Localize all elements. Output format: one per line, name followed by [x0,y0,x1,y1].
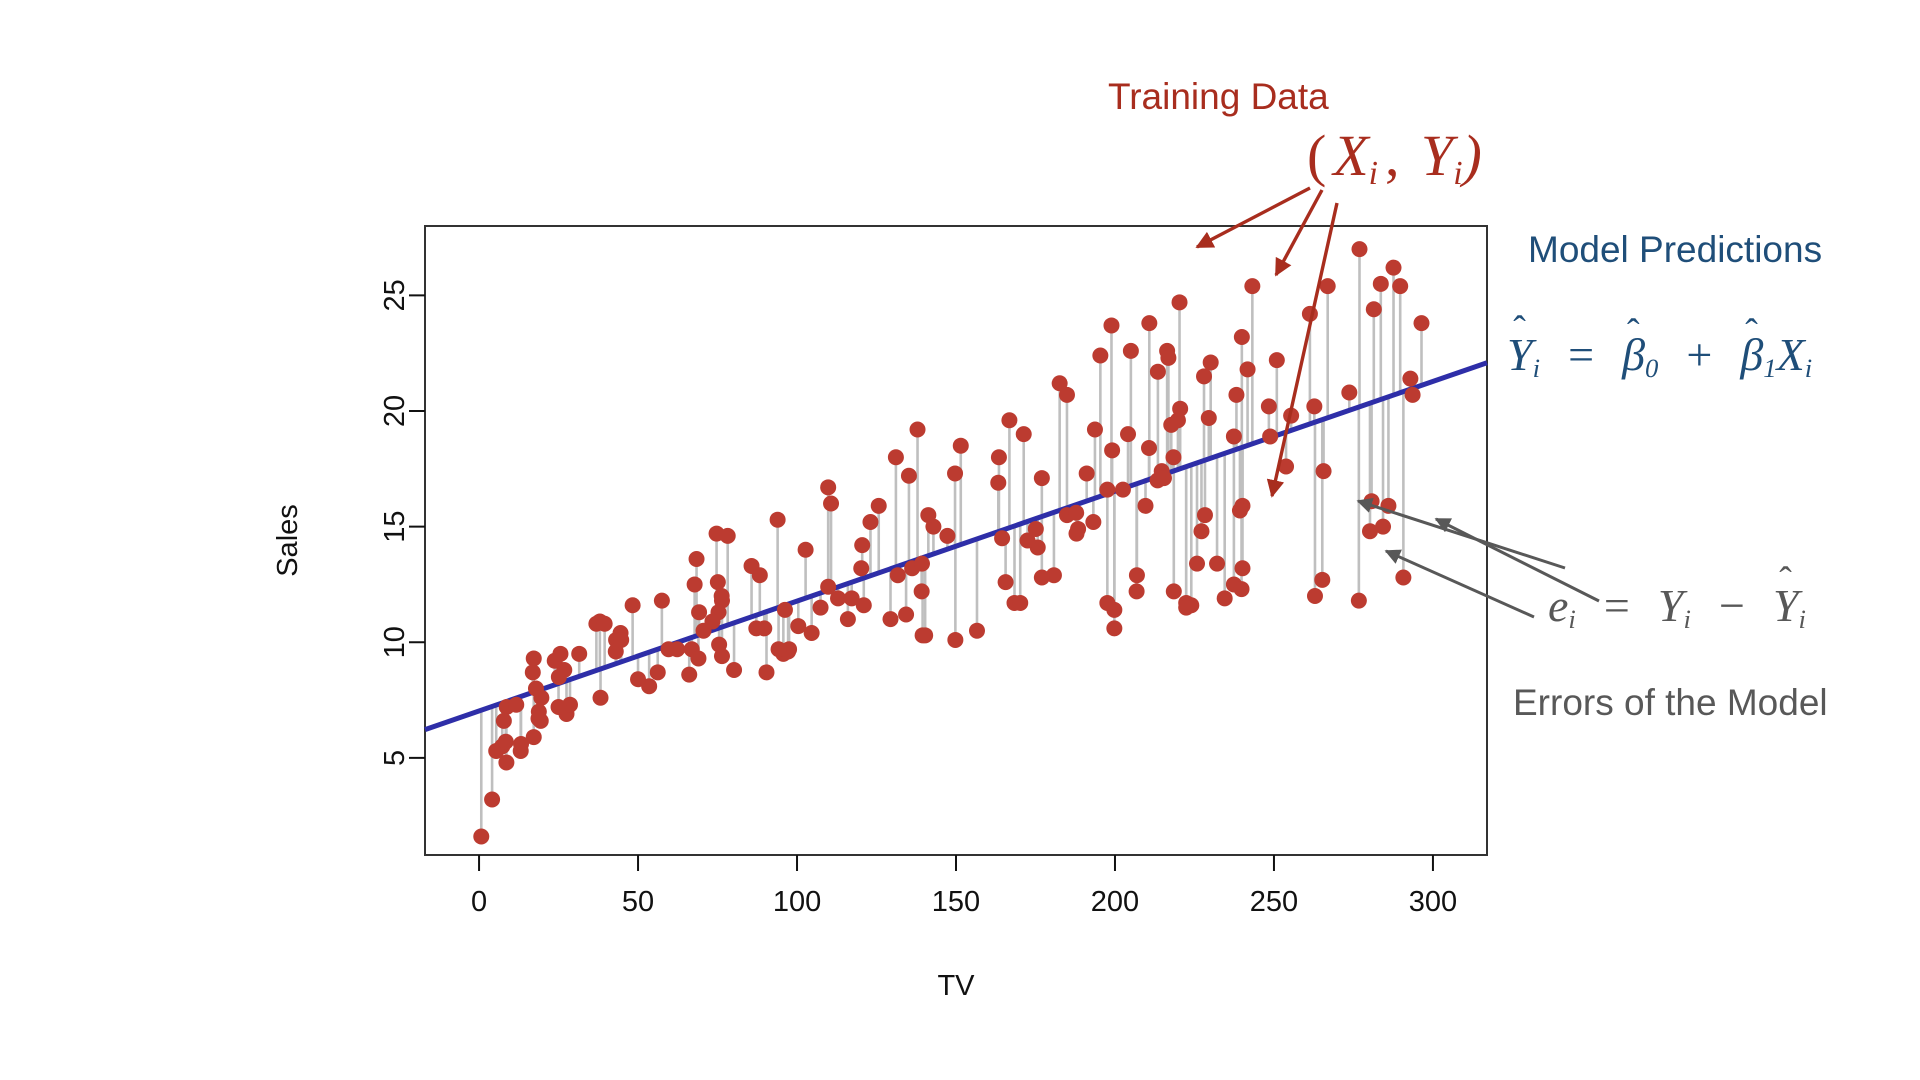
data-point [1386,260,1402,276]
data-point [1351,593,1367,609]
data-point [484,792,500,808]
training-data-formula: (Xi, Yi) [1300,126,1482,187]
data-point [1232,502,1248,518]
data-point [1123,343,1139,359]
data-point [1373,276,1389,292]
data-point [1165,449,1181,465]
data-point [650,664,666,680]
subscript-i: i [1799,605,1806,633]
data-point [1141,315,1157,331]
beta1-hat: ˆβ [1740,331,1763,379]
y-axis-title: Sales [272,504,304,577]
plus-sign: + [1681,331,1718,379]
data-point [947,465,963,481]
data-point [1156,470,1172,486]
x-axis-tick-label: 300 [1409,886,1457,918]
data-point [526,729,542,745]
subscript-i: i [1453,156,1462,191]
data-point [798,542,814,558]
data-point [1012,595,1028,611]
data-point [853,560,869,576]
data-point [1306,398,1322,414]
data-point [526,650,542,666]
data-point [1234,581,1250,597]
model-prediction-formula: ˆYi = ˆβ0 + ˆβ1Xi [1507,331,1812,379]
data-point [1106,620,1122,636]
data-point [890,567,906,583]
data-point [571,646,587,662]
data-point [914,583,930,599]
data-point [969,623,985,639]
data-point [820,579,836,595]
regression-line [425,363,1487,730]
data-point [1099,482,1115,498]
beta0-hat: ˆβ [1622,331,1645,379]
data-point [625,597,641,613]
model-predictions-label: Model Predictions [1528,231,1822,270]
data-point [770,512,786,528]
data-point [823,496,839,512]
equals-sign: = [1598,582,1635,630]
residual-formula: ei = Yi − ˆYi [1548,582,1806,630]
paren-close: ) [1463,126,1482,187]
data-point [947,632,963,648]
x-axis-tick-label: 0 [471,886,487,918]
data-point [1244,278,1260,294]
data-point [1395,570,1411,586]
Y-hat: ˆY [1773,582,1799,630]
subscript-i: i [1568,605,1575,633]
figure-canvas: 050100150200250300510152025TVSales Train… [0,0,1920,1080]
symbol-Y: Y [1658,582,1684,630]
data-point [1375,519,1391,535]
x-axis-tick-label: 250 [1250,886,1298,918]
data-point [813,600,829,616]
data-point [915,627,931,643]
hat-accent: ˆ [1513,311,1526,351]
x-axis-tick-label: 200 [1091,886,1139,918]
data-point [888,449,904,465]
subscript-i: i [1369,156,1378,191]
subscript-1: 1 [1763,354,1776,382]
data-point [1228,387,1244,403]
x-axis-tick-label: 100 [773,886,821,918]
data-point [1129,583,1145,599]
data-point [1016,426,1032,442]
data-point [1092,348,1108,364]
data-point [1085,514,1101,530]
data-point [939,528,955,544]
data-point [473,829,489,845]
data-point [533,690,549,706]
data-point [1115,482,1131,498]
data-point [1217,590,1233,606]
scatter-chart: 050100150200250300510152025TVSales [0,0,1920,1080]
data-point [1172,401,1188,417]
data-point [844,590,860,606]
y-axis-tick-label: 10 [379,626,411,658]
data-point [1034,570,1050,586]
data-point [871,498,887,514]
symbol-e: e [1548,582,1568,630]
data-point [1197,507,1213,523]
data-point [661,641,677,657]
y-axis-tick-label: 5 [379,750,411,766]
subscript-i: i [1683,605,1690,633]
data-point [994,530,1010,546]
data-point [551,699,567,715]
data-point [748,620,764,636]
data-point [898,607,914,623]
subscript-0: 0 [1645,354,1658,382]
data-point [691,604,707,620]
data-point [1341,385,1357,401]
data-point [1413,315,1429,331]
data-point [525,664,541,680]
data-point [998,574,1014,590]
training-data-arrow [1197,188,1310,247]
data-point [882,611,898,627]
data-point [804,625,820,641]
data-point [771,641,787,657]
data-point [1262,428,1278,444]
data-point [1172,294,1188,310]
data-point [910,422,926,438]
data-point [496,713,512,729]
data-point [920,507,936,523]
equals-sign: = [1563,331,1600,379]
data-point [1203,354,1219,370]
data-point [1099,595,1115,611]
x-axis-tick-label: 150 [932,886,980,918]
hat-accent: ˆ [1627,314,1640,354]
data-point [1351,241,1367,257]
data-point [630,671,646,687]
subscript-i: i [1533,354,1540,382]
data-point [1196,368,1212,384]
subscript-i: i [1805,354,1812,382]
data-point [1104,442,1120,458]
data-point [1070,521,1086,537]
data-point [1166,583,1182,599]
y-axis-tick-label: 20 [379,395,411,427]
data-point [1240,361,1256,377]
y-axis-tick-label: 25 [379,279,411,311]
data-point [1160,350,1176,366]
data-point [1068,505,1084,521]
data-point [820,479,836,495]
data-point [1178,600,1194,616]
symbol-Y: Y [1421,126,1453,187]
data-point [1316,463,1332,479]
data-point [1079,465,1095,481]
data-point [744,558,760,574]
data-point [1120,426,1136,442]
symbol-X: X [1333,126,1368,187]
data-point [508,697,524,713]
data-point [726,662,742,678]
data-point [1405,387,1421,403]
data-point [531,711,547,727]
data-point [593,690,609,706]
data-point [714,588,730,604]
data-point [687,576,703,592]
data-point [710,574,726,590]
paren-open: ( [1300,126,1333,187]
errors-of-model-label: Errors of the Model [1513,684,1828,723]
data-point [1020,533,1036,549]
data-point [711,637,727,653]
data-point [1129,567,1145,583]
training-data-label: Training Data [1108,78,1329,117]
data-point [953,438,969,454]
data-point [991,449,1007,465]
data-point [1138,498,1154,514]
data-point [1392,278,1408,294]
data-points-group [473,241,1429,844]
data-point [1201,410,1217,426]
data-point [914,556,930,572]
x-axis-tick-label: 50 [622,886,654,918]
data-point [1320,278,1336,294]
data-point [1001,412,1017,428]
data-point [1366,301,1382,317]
data-point [1261,398,1277,414]
data-point [1034,470,1050,486]
data-point [901,468,917,484]
data-point [1269,352,1285,368]
data-point [854,537,870,553]
data-point [1209,556,1225,572]
data-point [654,593,670,609]
data-point [758,664,774,680]
data-point [720,528,736,544]
data-point [777,602,793,618]
data-point [840,611,856,627]
hat-accent: ˆ [1779,562,1792,602]
comma: , [1378,126,1406,187]
data-point [513,743,529,759]
error-callout-arrow [1386,551,1534,617]
data-point [1402,371,1418,387]
Y-hat: ˆY [1507,331,1533,379]
data-point [1307,588,1323,604]
data-point [1189,556,1205,572]
data-point [556,662,572,678]
data-point [990,475,1006,491]
data-point [613,632,629,648]
minus-sign: − [1713,582,1750,630]
data-point [1150,364,1166,380]
x-axis-title: TV [937,970,975,1002]
data-point [689,551,705,567]
data-point [1087,422,1103,438]
data-point [597,616,613,632]
y-axis-tick-label: 15 [379,510,411,542]
data-point [552,646,568,662]
data-point [1234,560,1250,576]
data-point [1234,329,1250,345]
data-point [1314,572,1330,588]
data-point [1103,317,1119,333]
data-point [690,650,706,666]
data-point [1059,387,1075,403]
data-point [1141,440,1157,456]
error-callout-arrow [1358,501,1565,568]
hat-accent: ˆ [1745,314,1758,354]
data-point [862,514,878,530]
data-point [1226,428,1242,444]
symbol-X: X [1777,331,1805,379]
data-point [681,667,697,683]
data-point [1193,523,1209,539]
data-point [704,613,720,629]
data-point [498,734,514,750]
